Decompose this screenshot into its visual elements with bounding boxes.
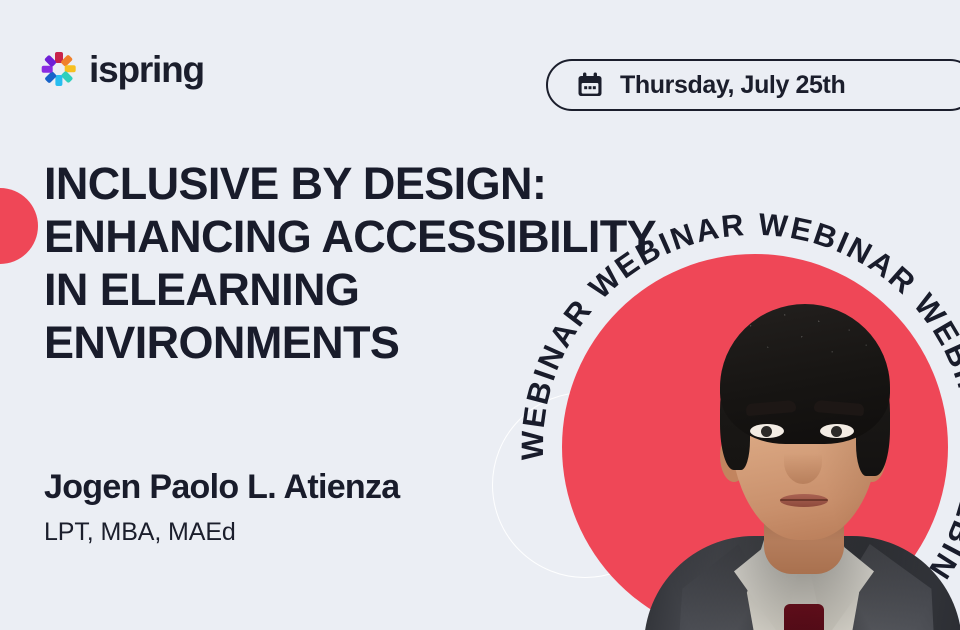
speaker-photo bbox=[638, 244, 960, 630]
ispring-logo[interactable]: ispring bbox=[40, 50, 204, 88]
logo-petal bbox=[61, 71, 74, 84]
speaker-portrait-cluster: WEBINAR WEBINAR WEBINAR WEBINAR WEBINAR … bbox=[520, 212, 960, 630]
ispring-logo-text: ispring bbox=[89, 51, 204, 88]
logo-petal bbox=[55, 75, 62, 86]
date-badge-text: Thursday, July 25th bbox=[620, 71, 845, 100]
ispring-petal-ring-icon bbox=[40, 50, 78, 88]
speaker-name: Jogen Paolo L. Atienza bbox=[44, 468, 400, 507]
left-accent-circle bbox=[0, 188, 38, 264]
portrait-clip bbox=[510, 202, 960, 630]
webinar-banner: ispring Thursday, July 25th INCLUSIVE BY… bbox=[0, 0, 960, 630]
speaker-credentials: LPT, MBA, MAEd bbox=[44, 518, 236, 547]
calendar-icon bbox=[576, 71, 604, 99]
date-badge[interactable]: Thursday, July 25th bbox=[546, 59, 960, 111]
